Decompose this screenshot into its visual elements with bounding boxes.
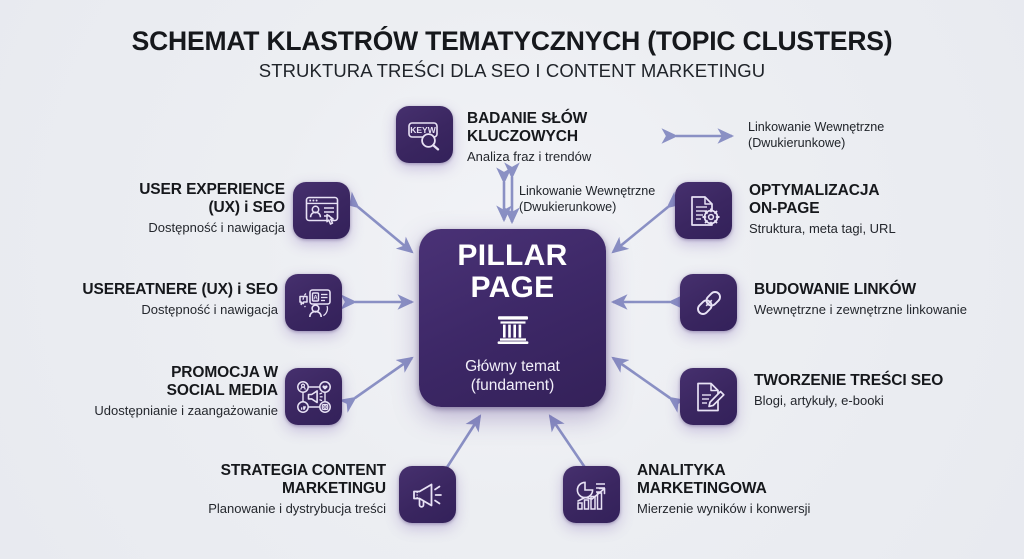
analytics-chart-icon <box>574 479 610 511</box>
connector-tresci <box>613 358 670 398</box>
node-subtitle: Blogi, artykuły, e-booki <box>754 393 943 409</box>
node-icon-budowanie-linkow[interactable] <box>680 274 737 331</box>
node-icon-user-experience-ux-seo[interactable] <box>293 182 350 239</box>
legend-internal-linking-vertical: Linkowanie Wewnętrzne (Dwukierunkowe) <box>519 183 655 215</box>
node-subtitle: Udostępnianie i zaangażowanie <box>40 403 278 419</box>
connector-ux <box>358 207 412 252</box>
node-subtitle: Planowanie i dystrybucja treści <box>150 501 386 517</box>
node-title-line2: MARKETINGU <box>150 480 386 498</box>
node-icon-badanie-slow-kluczowych[interactable]: KEYW <box>396 106 453 163</box>
legend-line1: Linkowanie Wewnętrzne <box>748 119 884 135</box>
page-title: SCHEMAT KLASTRÓW TEMATYCZNYCH (TOPIC CLU… <box>0 26 1024 57</box>
node-title-line1: PROMOCJA W <box>40 364 278 382</box>
node-label-user-experience-ux-seo: USER EXPERIENCE (UX) i SEO Dostępność i … <box>60 181 285 236</box>
node-label-usereatnere-ux-seo: USEREATNERE (UX) i SEO Dostępność i nawi… <box>30 281 278 318</box>
node-subtitle: Struktura, meta tagi, URL <box>749 221 896 237</box>
node-subtitle: Dostępność i nawigacja <box>60 220 285 236</box>
document-pencil-icon <box>692 380 726 414</box>
node-title-line1: BUDOWANIE LINKÓW <box>754 281 967 299</box>
node-subtitle: Analiza fraz i trendów <box>467 149 591 165</box>
connector-strategia <box>444 416 480 472</box>
node-label-analityka-marketingowa: ANALITYKA MARKETINGOWA Mierzenie wyników… <box>637 462 810 517</box>
connector-analityka <box>550 416 588 472</box>
legend-internal-linking-horizontal: Linkowanie Wewnętrzne (Dwukierunkowe) <box>748 119 884 151</box>
pillar-subtitle-line1: Główny temat <box>465 358 560 377</box>
pillar-title-line1: PILLAR <box>457 240 567 272</box>
node-title-line2: MARKETINGOWA <box>637 480 810 498</box>
chain-link-icon <box>692 286 726 320</box>
node-label-optymalizacja-on-page: OPTYMALIZACJA ON-PAGE Struktura, meta ta… <box>749 182 896 237</box>
pillar-page-card[interactable]: PILLAR PAGE Główny temat (fundament) <box>419 229 606 407</box>
node-title-line1: STRATEGIA CONTENT <box>150 462 386 480</box>
svg-text:A: A <box>313 295 318 301</box>
node-title-line1: BADANIE SŁÓW <box>467 110 591 128</box>
user-feedback-card-icon: A <box>296 287 332 319</box>
node-label-budowanie-linkow: BUDOWANIE LINKÓW Wewnętrzne i zewnętrzne… <box>754 281 967 318</box>
legend-line1: Linkowanie Wewnętrzne <box>519 183 655 199</box>
node-icon-promocja-w-social-media[interactable] <box>285 368 342 425</box>
node-icon-strategia-content-marketingu[interactable] <box>399 466 456 523</box>
browser-user-cursor-icon <box>304 195 340 227</box>
connector-social <box>355 358 412 398</box>
social-network-megaphone-icon <box>295 379 333 415</box>
node-icon-usereatnere-ux-seo[interactable]: A <box>285 274 342 331</box>
legend-line2: (Dwukierunkowe) <box>748 135 884 151</box>
node-title-line1: OPTYMALIZACJA <box>749 182 896 200</box>
node-subtitle: Dostępność i nawigacja <box>30 302 278 318</box>
page-subtitle: STRUKTURA TREŚCI DLA SEO I CONTENT MARKE… <box>0 60 1024 82</box>
node-subtitle: Wewnętrzne i zewnętrzne linkowanie <box>754 302 967 318</box>
legend-line2: (Dwukierunkowe) <box>519 199 655 215</box>
diagram-canvas: SCHEMAT KLASTRÓW TEMATYCZNYCH (TOPIC CLU… <box>0 0 1024 559</box>
node-title-line1: ANALITYKA <box>637 462 810 480</box>
node-label-strategia-content-marketingu: STRATEGIA CONTENT MARKETINGU Planowanie … <box>150 462 386 517</box>
node-label-tworzenie-tresci-seo: TWORZENIE TREŚCI SEO Blogi, artykuły, e-… <box>754 372 943 409</box>
node-title-line2: KLUCZOWYCH <box>467 128 591 146</box>
node-label-promocja-w-social-media: PROMOCJA W SOCIAL MEDIA Udostępnianie i … <box>40 364 278 419</box>
pillar-subtitle-line2: (fundament) <box>465 377 560 396</box>
svg-text:KEYW: KEYW <box>410 125 436 135</box>
classical-pillar-icon <box>496 313 530 350</box>
node-title-line1: USEREATNERE (UX) i SEO <box>30 281 278 299</box>
node-title-line1: USER EXPERIENCE <box>60 181 285 199</box>
node-subtitle: Mierzenie wyników i konwersji <box>637 501 810 517</box>
node-title-line2: (UX) i SEO <box>60 199 285 217</box>
node-icon-analityka-marketingowa[interactable] <box>563 466 620 523</box>
pillar-title-line2: PAGE <box>457 272 567 304</box>
node-title-line1: TWORZENIE TREŚCI SEO <box>754 372 943 390</box>
document-gear-icon <box>687 194 721 228</box>
node-title-line2: SOCIAL MEDIA <box>40 382 278 400</box>
node-label-badanie-slow-kluczowych: BADANIE SŁÓW KLUCZOWYCH Analiza fraz i t… <box>467 110 591 165</box>
node-icon-optymalizacja-on-page[interactable] <box>675 182 732 239</box>
keyword-search-icon: KEYW <box>407 119 443 151</box>
node-icon-tworzenie-tresci-seo[interactable] <box>680 368 737 425</box>
megaphone-icon <box>410 479 446 511</box>
node-title-line2: ON-PAGE <box>749 200 896 218</box>
